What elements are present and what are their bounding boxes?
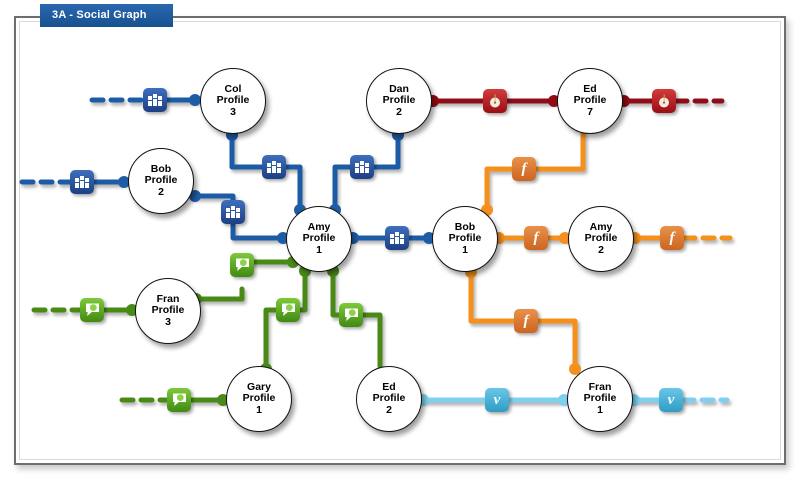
people-group-icon[interactable] <box>350 155 374 179</box>
node-col3[interactable]: Col Profile 3 <box>200 68 266 134</box>
facebook-f-icon[interactable]: f <box>514 309 538 333</box>
pin-clock-icon[interactable] <box>483 89 507 113</box>
node-number: 2 <box>158 187 164 199</box>
node-number: 7 <box>587 107 593 119</box>
people-group-icon[interactable] <box>221 200 245 224</box>
facebook-f-icon[interactable]: f <box>660 226 684 250</box>
node-fran1[interactable]: Fran Profile 1 <box>567 366 633 432</box>
node-number: 3 <box>165 317 171 329</box>
node-amy1[interactable]: Amy Profile 1 <box>286 206 352 272</box>
facebook-f-icon[interactable]: f <box>524 226 548 250</box>
node-dan2[interactable]: Dan Profile 2 <box>366 68 432 134</box>
node-number: 3 <box>230 107 236 119</box>
vimeo-v-icon[interactable]: v <box>485 388 509 412</box>
chat-person-icon[interactable] <box>80 298 104 322</box>
node-number: 2 <box>386 405 392 417</box>
node-bob1[interactable]: Bob Profile 1 <box>432 206 498 272</box>
node-number: 1 <box>597 405 603 417</box>
diagram-canvas: 3A - Social Graph <box>0 0 800 489</box>
node-fran3[interactable]: Fran Profile 3 <box>135 278 201 344</box>
node-number: 2 <box>598 245 604 257</box>
node-number: 1 <box>316 245 322 257</box>
chat-person-icon[interactable] <box>167 388 191 412</box>
people-group-icon[interactable] <box>143 88 167 112</box>
node-bob2[interactable]: Bob Profile 2 <box>128 148 194 214</box>
vimeo-v-icon[interactable]: v <box>659 388 683 412</box>
node-amy2[interactable]: Amy Profile 2 <box>568 206 634 272</box>
facebook-f-icon[interactable]: f <box>512 157 536 181</box>
node-ed7[interactable]: Ed Profile 7 <box>557 68 623 134</box>
chat-person-icon[interactable] <box>276 298 300 322</box>
pin-clock-icon[interactable] <box>652 89 676 113</box>
node-ed2[interactable]: Ed Profile 2 <box>356 366 422 432</box>
diagram-title-tab: 3A - Social Graph <box>40 4 173 27</box>
people-group-icon[interactable] <box>385 226 409 250</box>
node-number: 1 <box>462 245 468 257</box>
node-number: 2 <box>396 107 402 119</box>
people-group-icon[interactable] <box>70 170 94 194</box>
node-gary1[interactable]: Gary Profile 1 <box>226 366 292 432</box>
chat-person-icon[interactable] <box>230 253 254 277</box>
node-number: 1 <box>256 405 262 417</box>
chat-person-icon[interactable] <box>339 303 363 327</box>
people-group-icon[interactable] <box>262 155 286 179</box>
